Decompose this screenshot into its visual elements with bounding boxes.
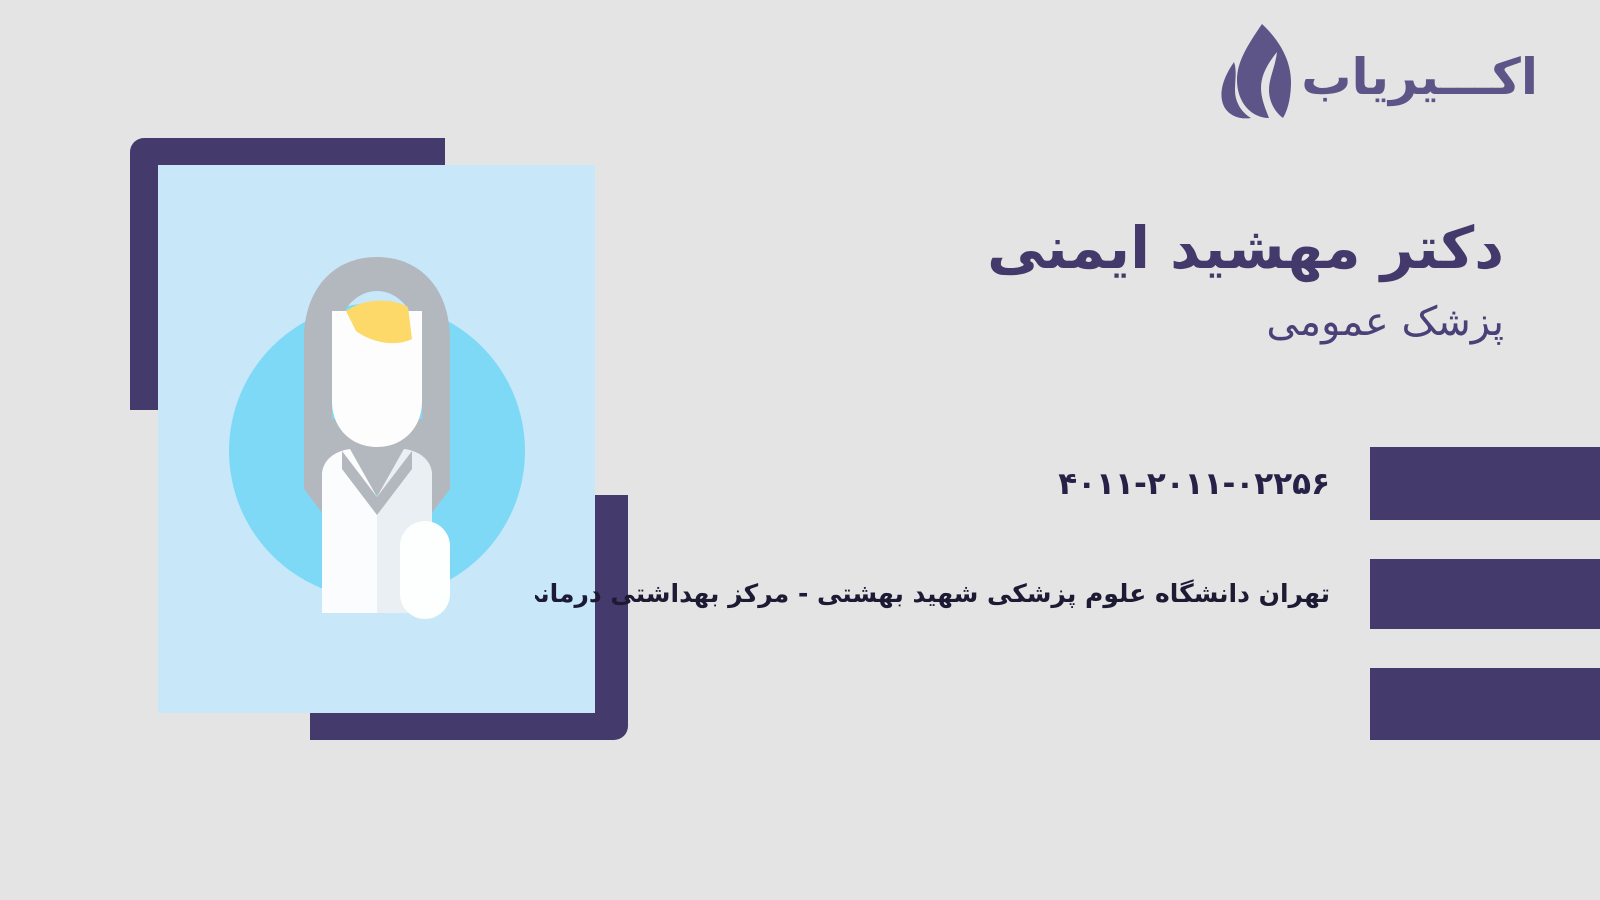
doctor-info: دکتر مهشید ایمنی پزشک عمومی (764, 214, 1504, 348)
flame-drop-icon (1217, 22, 1291, 120)
phone-row[interactable]: ۴۰۱۱-۲۰۱۱-۰۲۲۵۶ (1058, 447, 1330, 520)
address-text: تهران دانشگاه علوم پزشکی شهید بهشتی - مر… (535, 579, 1330, 609)
brand-name: اکـــیریاب (1301, 52, 1538, 102)
female-doctor-avatar-icon (212, 239, 542, 639)
accent-bar-2 (1370, 559, 1600, 629)
phone-number: ۴۰۱۱-۲۰۱۱-۰۲۲۵۶ (1058, 466, 1330, 502)
address-row: تهران دانشگاه علوم پزشکی شهید بهشتی - مر… (535, 559, 1330, 629)
page-title: دکتر مهشید ایمنی (764, 214, 1504, 282)
doctor-photo-card (158, 165, 595, 713)
photo-composition (130, 138, 630, 742)
brand-logo[interactable]: اکـــیریاب (1217, 22, 1538, 120)
doctor-profile-card: اکـــیریاب (0, 0, 1600, 900)
accent-bar-1 (1370, 447, 1600, 520)
accent-bar-3 (1370, 668, 1600, 740)
doctor-specialty: پزشک عمومی (764, 296, 1504, 348)
